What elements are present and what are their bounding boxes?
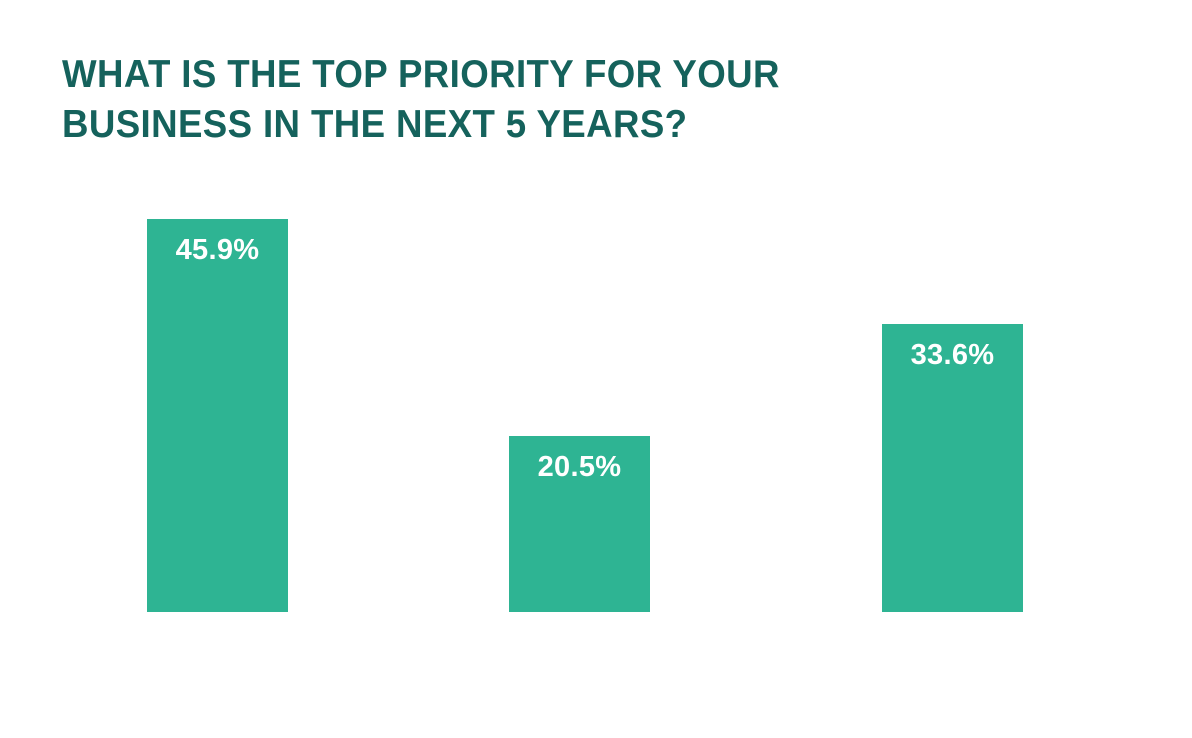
plot-area: 45.9% Customer experience 20.5% Pricing … [0, 0, 1192, 738]
bar-product[interactable]: 33.6% [882, 324, 1023, 612]
bar-value-label: 20.5% [509, 450, 650, 484]
bar-value-label: 45.9% [147, 233, 288, 267]
bar-pricing[interactable]: 20.5% [509, 436, 650, 612]
bar-customer-experience[interactable]: 45.9% [147, 219, 288, 612]
chart-canvas: WHAT IS THE TOP PRIORITY FOR YOUR BUSINE… [0, 0, 1192, 738]
bar-value-label: 33.6% [882, 338, 1023, 372]
